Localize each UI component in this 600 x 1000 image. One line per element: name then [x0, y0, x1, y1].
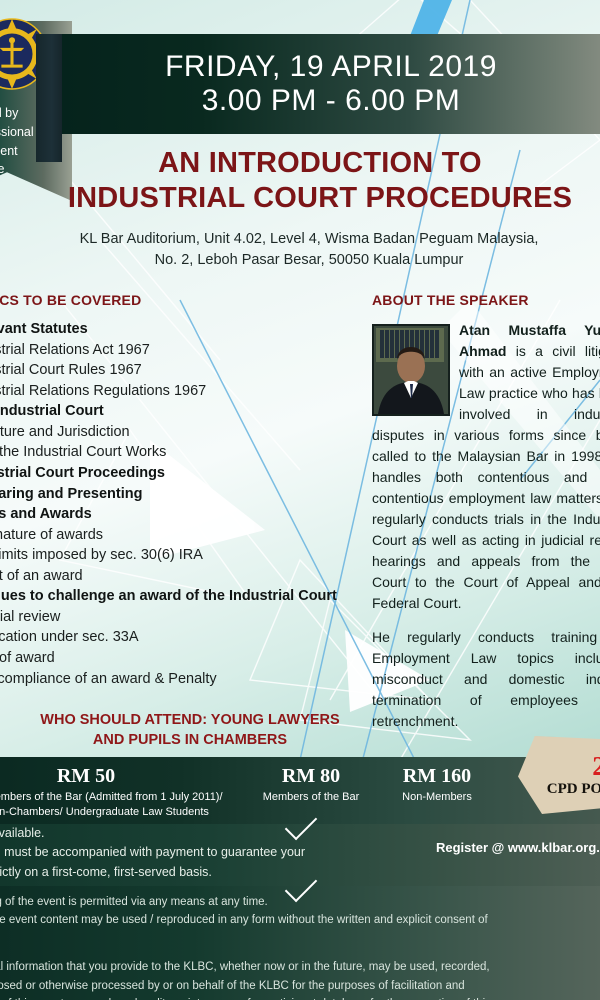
topic-item: Judicial review [0, 608, 366, 628]
price-description-line-1: Pupils/ Members of the Bar (Admitted fro… [0, 790, 236, 805]
topic-item: Effect of an award [0, 567, 366, 587]
speaker-heading: ABOUT THE SPEAKER [372, 292, 600, 308]
speaker-bio-paragraph-2: He regularly conducts training on Employ… [372, 627, 600, 732]
disclaimer-line-2: No part of the event content may be used… [0, 914, 488, 944]
topic-item: Industrial Relations Regulations 1967 [0, 382, 366, 402]
topic-item: Structure and Jurisdiction [0, 423, 366, 443]
price-tier: RM 160 Non-Members [372, 762, 502, 805]
cpd-badge-content: 2 CPD POINTS [524, 738, 600, 812]
audience-line-1: WHO SHOULD ATTEND: YOUNG LAWYERS [14, 711, 366, 731]
topic-item: The limits imposed by sec. 30(6) IRA [0, 546, 366, 566]
topic-item: Avenues to challenge an award of the Ind… [0, 587, 366, 607]
topic-item: Relevant Statutes [0, 320, 366, 340]
cpd-points-value: 2 [592, 753, 600, 780]
price-amount: RM 80 [236, 762, 386, 790]
price-description-line-2: Pupils-in-Chambers/ Undergraduate Law St… [0, 805, 236, 820]
topic-item: Industrial Relations Act 1967 [0, 341, 366, 361]
register-link[interactable]: Register @ www.klbar.org.my [436, 840, 600, 855]
page-title: AN INTRODUCTION TO INDUSTRIAL COURT PROC… [0, 146, 600, 216]
topics-list: Relevant Statutes Industrial Relations A… [0, 320, 366, 689]
venue-line-1: KL Bar Auditorium, Unit 4.02, Level 4, W… [0, 229, 600, 250]
disclaimer-line-1: No recording of the event is permitted v… [0, 896, 268, 908]
topic-item: Industrial Court Rules 1967 [0, 361, 366, 381]
price-amount: RM 160 [372, 762, 502, 790]
registration-notes: 100 seats available. Registration must b… [0, 824, 444, 882]
seats-line: 100 seats available. [0, 824, 444, 843]
event-time: 3.00 PM - 6.00 PM [202, 84, 461, 118]
audience-line-2: AND PUPILS IN CHAMBERS [14, 731, 366, 751]
price-tier: RM 50 Pupils/ Members of the Bar (Admitt… [0, 762, 236, 820]
topic-item: The nature of awards [0, 526, 366, 546]
speaker-column: ABOUT THE SPEAKER [372, 292, 600, 745]
price-tier: RM 80 Members of the Bar [236, 762, 386, 805]
topic-item: Application under sec. 33A [0, 628, 366, 648]
event-poster: Organised by the Professional Developmen… [0, 0, 600, 1000]
topics-column: TOPICS TO BE COVERED Relevant Statutes I… [0, 292, 366, 750]
topics-heading: TOPICS TO BE COVERED [0, 292, 366, 308]
price-description-line-1: Members of the Bar [236, 790, 386, 805]
price-description-line-1: Non-Members [372, 790, 502, 805]
header-datetime: FRIDAY, 19 APRIL 2019 3.00 PM - 6.00 PM [62, 34, 600, 134]
title-line-2: INDUSTRIAL COURT PROCEDURES [0, 181, 600, 216]
notes-line-3: seat and strictly on a first-come, first… [0, 863, 444, 882]
topic-item: The Industrial Court [0, 402, 366, 422]
event-date: FRIDAY, 19 APRIL 2019 [165, 50, 497, 84]
topic-item: Costs and Awards [0, 505, 366, 525]
venue-address: KL Bar Auditorium, Unit 4.02, Level 4, W… [0, 229, 600, 271]
topic-item: Preparing and Presenting [0, 485, 366, 505]
topic-item: How the Industrial Court Works [0, 443, 366, 463]
disclaimer-paragraph-2: Any personal information that you provid… [0, 958, 496, 1000]
venue-line-2: No. 2, Leboh Pasar Besar, 50050 Kuala Lu… [0, 250, 600, 271]
disclaimer-paragraph-1: No recording of the event is permitted v… [0, 893, 496, 948]
topic-item: Industrial Court Proceedings [0, 464, 366, 484]
topic-item: Stay of award [0, 649, 366, 669]
title-line-1: AN INTRODUCTION TO [0, 146, 600, 181]
target-audience: WHO SHOULD ATTEND: YOUNG LAWYERS AND PUP… [0, 711, 366, 750]
disclaimer-text: No recording of the event is permitted v… [0, 893, 496, 1000]
notes-line-2: Registration must be accompanied with pa… [0, 843, 444, 862]
cpd-points-label: CPD POINTS [547, 782, 600, 797]
speaker-bio: Atan Mustaffa Yussof Ahmad is a civil li… [372, 320, 600, 732]
price-amount: RM 50 [0, 762, 236, 790]
speaker-portrait [372, 324, 450, 416]
seats-text: seats available. [0, 826, 45, 840]
ribbon-fold [36, 34, 62, 162]
topic-item: Non-compliance of an award & Penalty [0, 670, 366, 690]
